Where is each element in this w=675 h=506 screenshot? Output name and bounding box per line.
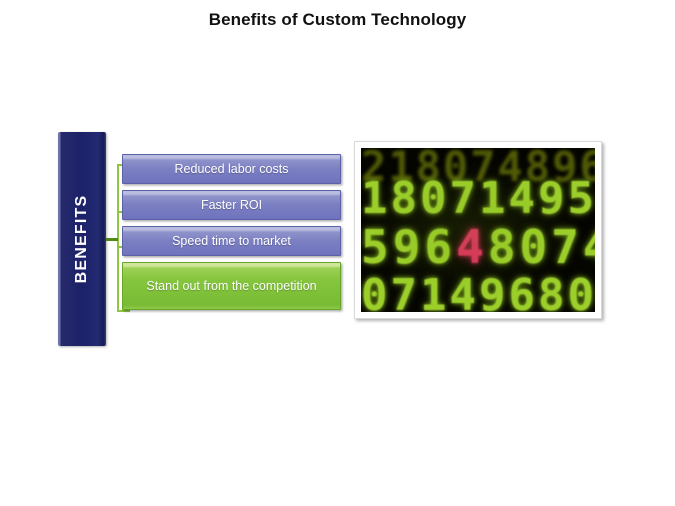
display-digit: 5 (568, 173, 596, 224)
display-digit: 6 (509, 270, 539, 312)
digit-row: 59648074 (361, 220, 595, 274)
benefit-box-faster-roi[interactable]: Faster ROI (122, 190, 341, 220)
connector-spine-stub (106, 238, 118, 241)
display-digit: 8 (538, 270, 568, 312)
display-digit: 8 (488, 220, 520, 274)
digital-display-photo-frame: 218074896 180714956 59648074 071496800 (354, 141, 602, 319)
display-digit: 9 (538, 173, 568, 224)
display-digit: 0 (361, 270, 391, 312)
display-digit: 0 (568, 270, 596, 312)
digit-row: 071496800 (361, 270, 595, 312)
display-digit: 4 (583, 220, 595, 274)
display-digit: 1 (361, 173, 391, 224)
display-digit: 5 (361, 220, 393, 274)
benefit-box-label: Speed time to market (166, 234, 297, 248)
benefit-box-label: Faster ROI (195, 198, 268, 212)
benefit-box-label: Stand out from the competition (140, 279, 322, 293)
display-digit: 4 (509, 173, 539, 224)
display-digit: 9 (479, 270, 509, 312)
benefit-box-speed-time-to-market[interactable]: Speed time to market (122, 226, 341, 256)
display-digit: 9 (393, 220, 425, 274)
benefit-box-reduced-labor-costs[interactable]: Reduced labor costs (122, 154, 341, 184)
display-digit: 8 (391, 173, 421, 224)
page-title: Benefits of Custom Technology (0, 10, 675, 30)
display-digit: 4 (456, 220, 488, 274)
display-digit: 1 (420, 270, 450, 312)
display-digit: 1 (479, 173, 509, 224)
display-digit: 4 (450, 270, 480, 312)
display-digit: 7 (450, 173, 480, 224)
benefits-spine: BENEFITS (58, 132, 106, 346)
display-digit: 7 (391, 270, 421, 312)
benefit-box-label: Reduced labor costs (169, 162, 295, 176)
benefit-box-stand-out-from-the-competition[interactable]: Stand out from the competition (122, 262, 341, 310)
display-digit: 0 (520, 220, 552, 274)
display-digit: 6 (424, 220, 456, 274)
benefits-spine-label: BENEFITS (73, 195, 91, 284)
benefits-box-list: Reduced labor costs Faster ROI Speed tim… (122, 132, 343, 346)
display-digit: 7 (551, 220, 583, 274)
benefits-diagram: BENEFITS Reduced labor costs Faster ROI … (58, 132, 343, 346)
digital-display-photo: 218074896 180714956 59648074 071496800 (361, 148, 595, 312)
digit-row: 180714956 (361, 173, 595, 224)
display-digit: 0 (420, 173, 450, 224)
